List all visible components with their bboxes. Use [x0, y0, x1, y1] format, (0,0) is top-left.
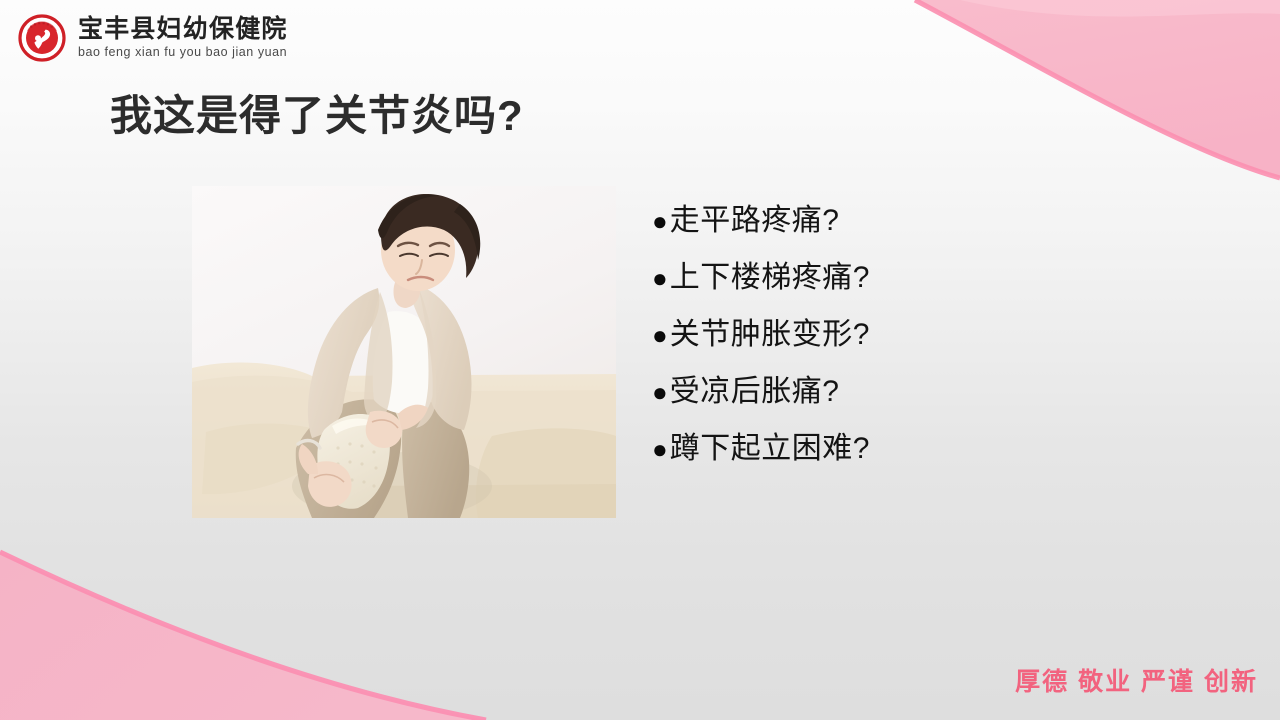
bottom-left-pink-shape: [0, 552, 486, 720]
list-item-label: 走平路疼痛?: [670, 204, 840, 237]
photo-illustration: [192, 186, 616, 518]
list-item: ● 走平路疼痛?: [652, 192, 1072, 249]
symptom-list: ● 走平路疼痛? ● 上下楼梯疼痛? ● 关节肿胀变形? ● 受凉后胀痛? ● …: [652, 192, 1072, 477]
hospital-name: 宝丰县妇幼保健院: [78, 16, 288, 42]
bullet-dot-icon: ●: [652, 379, 668, 405]
top-right-pink-edge: [915, 0, 1280, 178]
hospital-pinyin: bao feng xian fu you bao jian yuan: [78, 45, 288, 60]
patient-photo: [192, 186, 616, 518]
list-item-label: 关节肿胀变形?: [670, 318, 870, 351]
bullet-dot-icon: ●: [652, 208, 668, 234]
top-right-pink-sliver: [960, 0, 1280, 17]
bottom-left-pink-edge: [0, 552, 486, 720]
slide-title: 我这是得了关节炎吗?: [110, 92, 524, 140]
list-item-label: 受凉后胀痛?: [670, 375, 840, 408]
list-item: ● 受凉后胀痛?: [652, 363, 1072, 420]
list-item: ● 蹲下起立困难?: [652, 420, 1072, 477]
bullet-dot-icon: ●: [652, 265, 668, 291]
hospital-emblem-icon: [18, 14, 66, 62]
hospital-logo-bar: 宝丰县妇幼保健院 bao feng xian fu you bao jian y…: [18, 12, 288, 64]
list-item: ● 上下楼梯疼痛?: [652, 249, 1072, 306]
hospital-motto: 厚德 敬业 严谨 创新: [1015, 662, 1258, 698]
presentation-slide: 宝丰县妇幼保健院 bao feng xian fu you bao jian y…: [0, 0, 1280, 720]
list-item-label: 上下楼梯疼痛?: [670, 261, 870, 294]
bullet-dot-icon: ●: [652, 436, 668, 462]
bullet-dot-icon: ●: [652, 322, 668, 348]
list-item-label: 蹲下起立困难?: [670, 432, 870, 465]
top-right-pink-shape: [915, 0, 1280, 178]
list-item: ● 关节肿胀变形?: [652, 306, 1072, 363]
